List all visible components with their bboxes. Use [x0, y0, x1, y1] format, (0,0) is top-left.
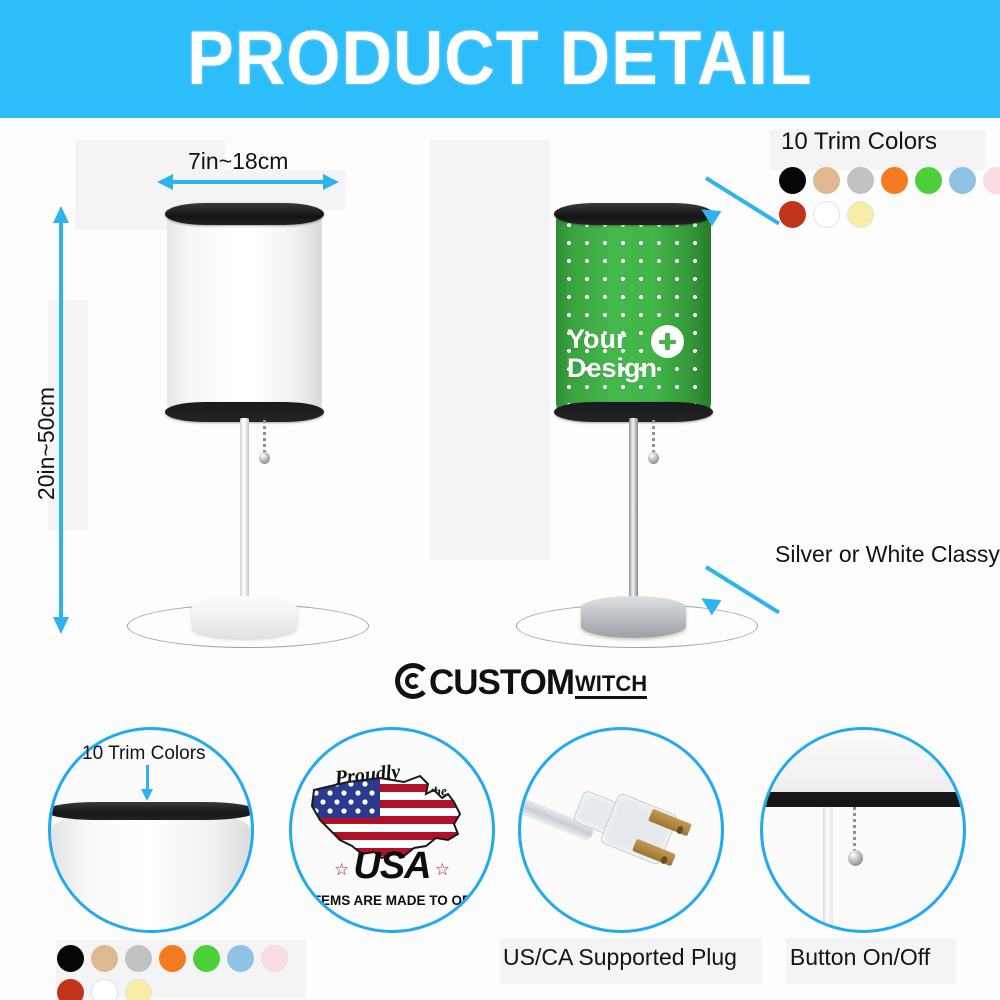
trim-colors-circle-heading: 10 Trim Colors — [82, 743, 206, 765]
feature-circle-made-in-usa: Proudly Made in the — [289, 727, 495, 933]
usa-badge: Proudly Made in the — [292, 730, 492, 930]
feature-circle-plug — [518, 727, 724, 933]
switch-caption: Button On/Off — [740, 944, 980, 971]
green-lamp-chain-ball[interactable] — [648, 452, 659, 464]
switch-pull-chain[interactable] — [853, 807, 856, 855]
plug-caption: US/CA Supported Plug — [500, 944, 740, 971]
trim-swatch-green[interactable] — [193, 945, 220, 972]
trim-circle-arrow-line — [146, 765, 149, 791]
usa-star-right-icon: ☆ — [435, 860, 450, 880]
switch-chain-ball[interactable] — [848, 850, 863, 866]
trim-swatch-gray[interactable] — [125, 945, 152, 972]
logo-main-text: CUSTOM — [429, 666, 574, 699]
trim-swatch-pink[interactable] — [261, 945, 288, 972]
usa-big-text: USA — [353, 845, 430, 888]
brand-logo: CUSTOM WITCH — [395, 663, 647, 699]
switch-pole — [823, 807, 833, 930]
feature-circle-switch — [760, 727, 966, 933]
trim-swatch-tan[interactable] — [91, 945, 118, 972]
trim-circle-arrow-head — [141, 789, 153, 801]
design-line-2: Design — [567, 354, 657, 383]
trim-swatch-light-blue[interactable] — [227, 945, 254, 972]
trim-swatch-white[interactable] — [91, 979, 118, 1000]
green-lamp-base — [581, 596, 686, 638]
green-lamp-pole — [629, 418, 638, 610]
product-detail-infographic: PRODUCT DETAIL 10 Trim Colors 7in~18cm 2… — [0, 0, 1000, 1000]
c-ring-icon — [395, 663, 431, 699]
power-plug-icon — [521, 730, 721, 930]
trim-swatch-red[interactable] — [57, 979, 84, 1000]
base-finish-label: Silver or White Classy — [775, 541, 1000, 568]
usa-sub-text: ALL ITEMS ARE MADE TO ORDER! — [289, 893, 495, 908]
plus-icon — [651, 325, 684, 358]
usa-star-left-icon: ☆ — [334, 860, 349, 880]
your-design-text: Your Design — [567, 325, 657, 383]
design-line-1: Your — [567, 325, 657, 354]
logo-sub-text: WITCH — [575, 673, 647, 699]
trim-color-swatches-bottom[interactable] — [57, 945, 307, 1000]
trim-swatch-orange[interactable] — [159, 945, 186, 972]
green-lamp-shade: Your Design — [556, 212, 711, 412]
shade-trim-top — [554, 203, 713, 225]
trim-swatch-black[interactable] — [57, 945, 84, 972]
trim-swatch-yellow[interactable] — [125, 979, 152, 1000]
switch-shade-trim — [760, 792, 966, 807]
